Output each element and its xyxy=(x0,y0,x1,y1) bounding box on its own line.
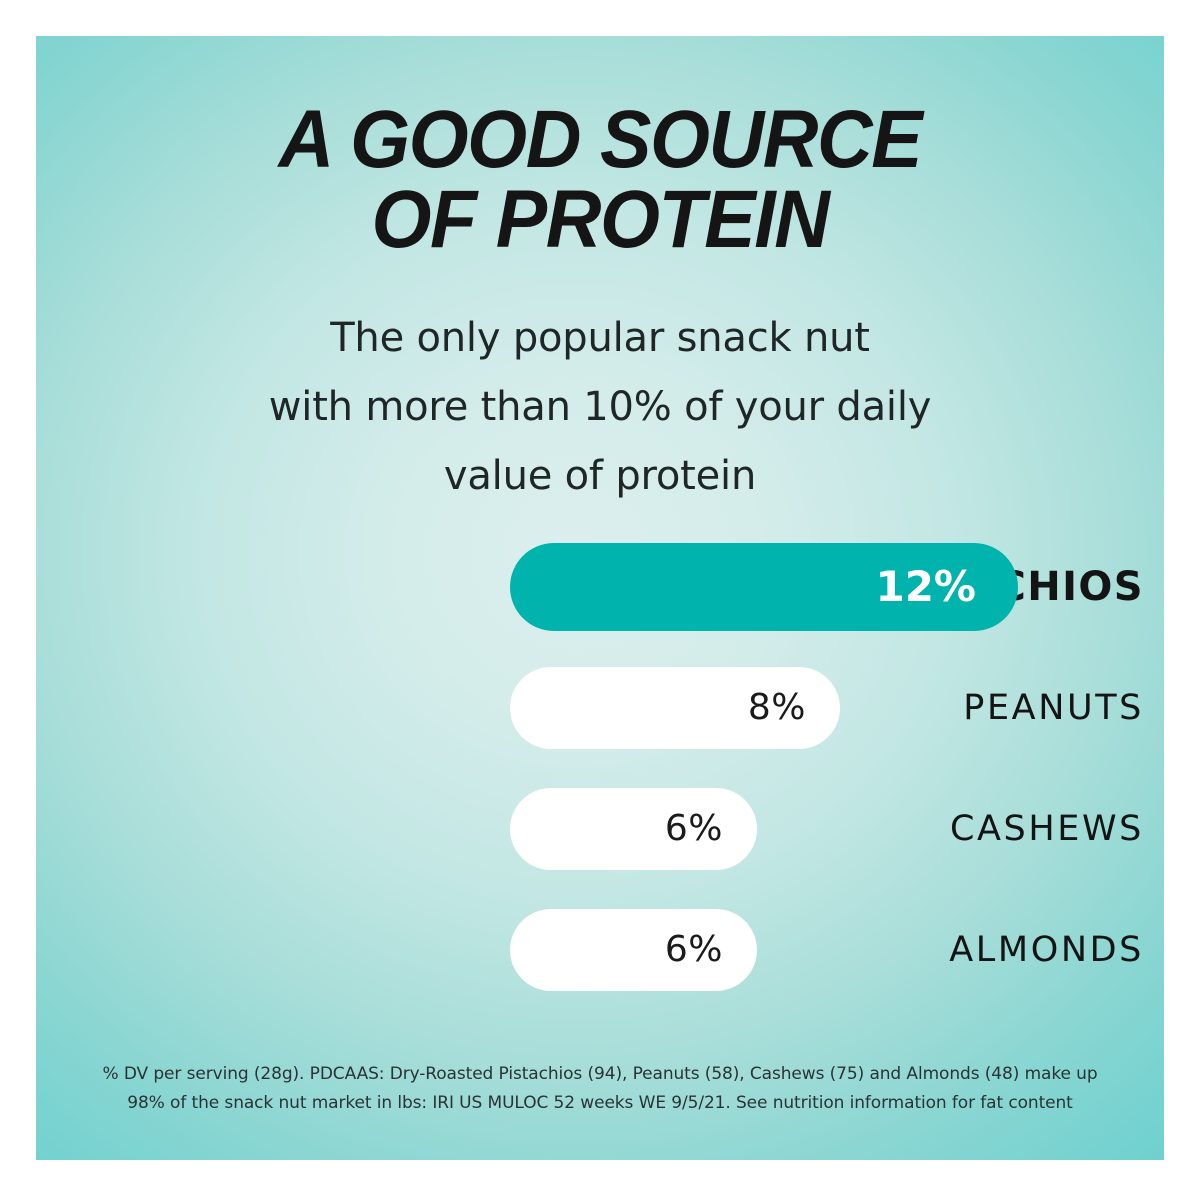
protein-bar-chart: PISTACHIOS 12% PEANUTS 8% CASHEWS xyxy=(36,526,1164,1010)
bar-peanuts: 8% xyxy=(510,667,840,749)
subtitle-line-3: value of protein xyxy=(36,442,1164,511)
poster-frame: A GOOD SOURCE OF PROTEIN The only popula… xyxy=(0,0,1200,1200)
bar-value-almonds: 6% xyxy=(665,929,723,970)
headline-line-2: OF PROTEIN xyxy=(70,180,1130,260)
subtitle-line-2: with more than 10% of your daily xyxy=(36,373,1164,442)
bar-pistachios: 12% xyxy=(510,543,1018,631)
bar-row: ALMONDS 6% xyxy=(36,889,1164,1010)
bar-track-pistachios: 12% xyxy=(510,526,1164,647)
bar-row: PISTACHIOS 12% xyxy=(36,526,1164,647)
bar-value-cashews: 6% xyxy=(665,808,723,849)
bar-track-peanuts: 8% xyxy=(510,647,1164,768)
subtitle-line-1: The only popular snack nut xyxy=(36,304,1164,373)
bar-row: CASHEWS 6% xyxy=(36,768,1164,889)
page-title: A GOOD SOURCE OF PROTEIN xyxy=(70,100,1130,261)
bar-value-peanuts: 8% xyxy=(748,687,806,728)
bar-value-pistachios: 12% xyxy=(875,562,976,611)
headline-line-1: A GOOD SOURCE xyxy=(70,100,1130,180)
subtitle: The only popular snack nut with more tha… xyxy=(36,304,1164,510)
bar-row: PEANUTS 8% xyxy=(36,647,1164,768)
footnote-line-1: % DV per serving (28g). PDCAAS: Dry-Roas… xyxy=(36,1060,1164,1089)
footnote: % DV per serving (28g). PDCAAS: Dry-Roas… xyxy=(36,1060,1164,1118)
footnote-line-2: 98% of the snack nut market in lbs: IRI … xyxy=(36,1089,1164,1118)
bar-track-cashews: 6% xyxy=(510,768,1164,889)
bar-track-almonds: 6% xyxy=(510,889,1164,1010)
bar-almonds: 6% xyxy=(510,909,757,991)
poster-canvas: A GOOD SOURCE OF PROTEIN The only popula… xyxy=(36,36,1164,1160)
bar-cashews: 6% xyxy=(510,788,757,870)
